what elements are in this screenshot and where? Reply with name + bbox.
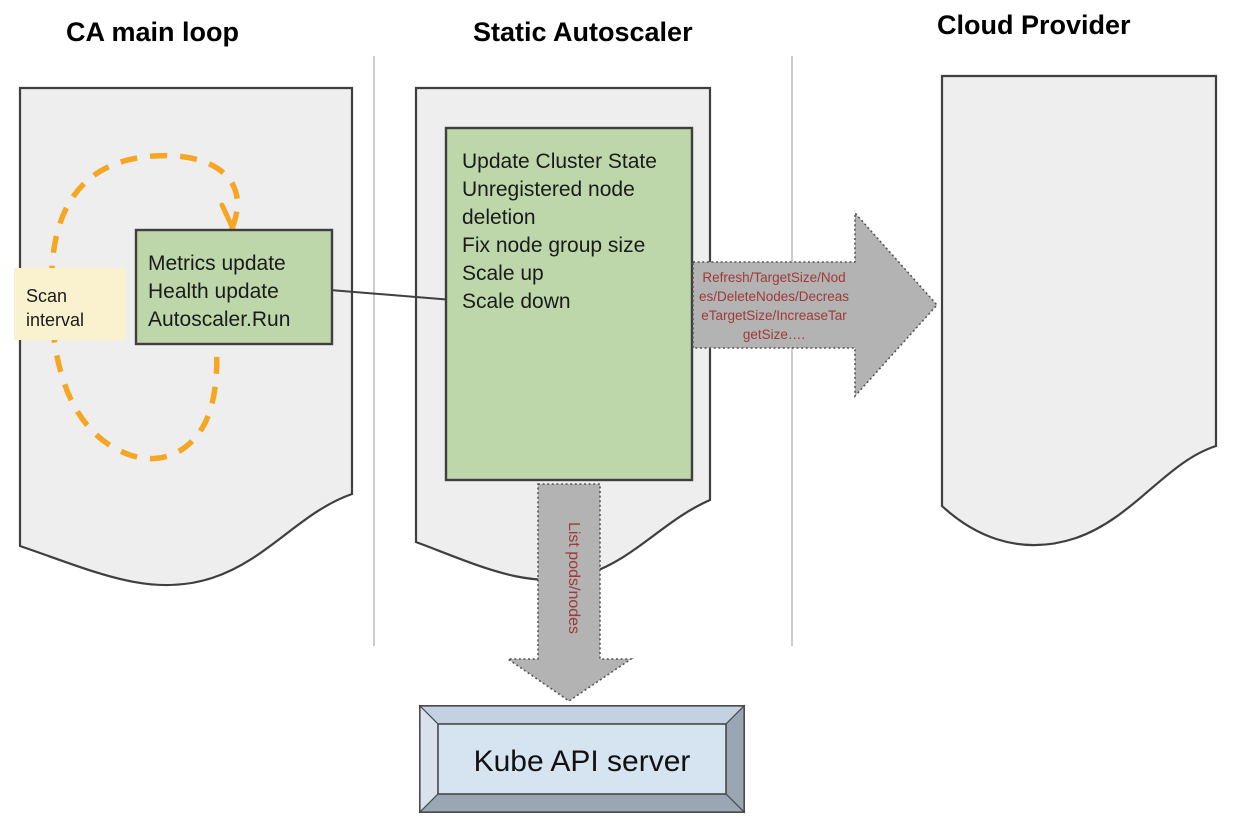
metrics-update-line-3: Autoscaler.Run: [148, 308, 290, 331]
cloud-provider-call-arrow-shape: [693, 213, 937, 396]
lane-body-cloud-provider: [942, 76, 1216, 545]
cloud-provider-call-arrow: Refresh/TargetSize/Nod es/DeleteNodes/De…: [693, 213, 937, 396]
cloud-call-label-line-4: getSize….: [743, 327, 805, 342]
lane-title-static-autoscaler: Static Autoscaler: [473, 17, 693, 47]
list-pods-nodes-label: List pods/nodes: [565, 522, 582, 634]
static-step-line-2: Unregistered node: [462, 178, 635, 201]
scan-interval-line-2: interval: [26, 310, 84, 330]
scan-interval-note: Scan interval: [14, 268, 126, 340]
lane-title-ca-main-loop: CA main loop: [66, 17, 239, 47]
lane-cloud-provider: [942, 76, 1216, 545]
static-step-line-4: Fix node group size: [462, 234, 645, 257]
diagram-canvas: CA main loop Static Autoscaler Cloud Pro…: [0, 0, 1240, 838]
kube-api-server-label: Kube API server: [474, 745, 691, 778]
metrics-update-line-2: Health update: [148, 280, 279, 303]
static-step-line-6: Scale down: [462, 290, 571, 313]
cloud-call-label-line-2: es/DeleteNodes/Decreas: [699, 289, 849, 304]
lane-title-cloud-provider: Cloud Provider: [937, 10, 1131, 40]
metrics-update-line-1: Metrics update: [148, 252, 286, 275]
static-autoscaler-steps-box: Update Cluster State Unregistered node d…: [446, 128, 692, 480]
static-step-line-1: Update Cluster State: [462, 150, 657, 173]
architecture-diagram: CA main loop Static Autoscaler Cloud Pro…: [0, 0, 1240, 838]
kube-api-bevel-bottom: [420, 794, 744, 812]
kube-api-bevel-top: [420, 706, 744, 724]
cloud-call-label-line-3: eTargetSize/IncreaseTar: [701, 308, 847, 323]
static-step-line-3: deletion: [462, 206, 536, 229]
cloud-call-label-line-1: Refresh/TargetSize/Nod: [702, 270, 845, 285]
kube-api-server-box[interactable]: Kube API server: [420, 706, 744, 812]
static-step-line-5: Scale up: [462, 262, 544, 285]
metrics-update-box: Metrics update Health update Autoscaler.…: [136, 230, 332, 344]
scan-interval-line-1: Scan: [26, 286, 67, 306]
